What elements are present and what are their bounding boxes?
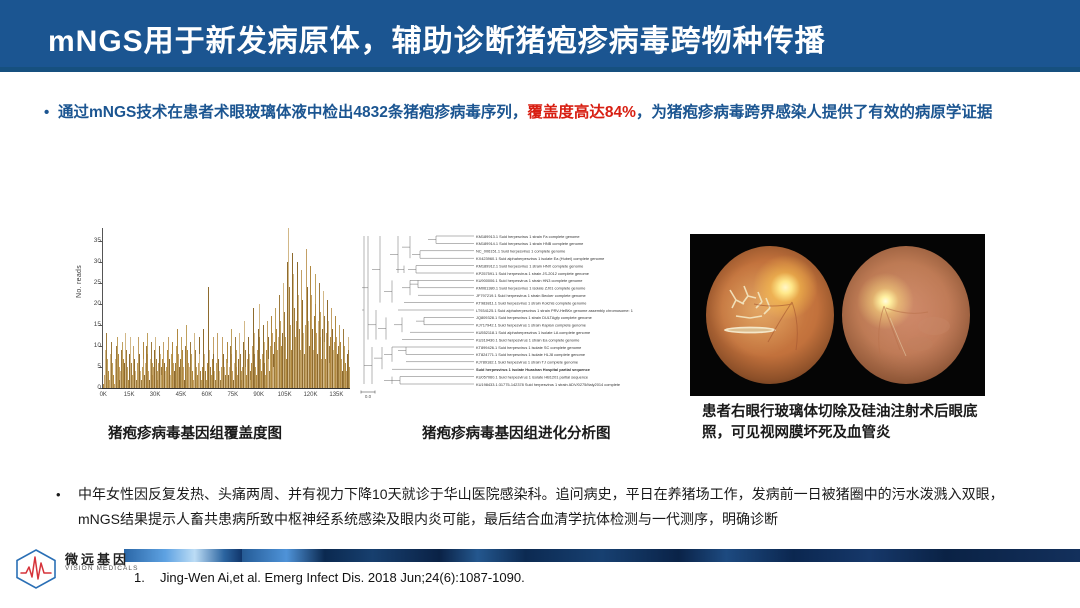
tree-taxon-label: KU900006.1 Suid herpesvirus 1 strain HN3… xyxy=(476,278,582,283)
header-underline xyxy=(0,67,1080,72)
coverage-y-tick-mark xyxy=(99,367,102,368)
retina-lesion-overlay-right xyxy=(842,246,970,384)
coverage-x-tick-label: 15K xyxy=(124,392,135,398)
page-title: mNGS用于新发病原体，辅助诊断猪疱疹病毒跨物种传播 xyxy=(48,16,826,60)
tree-scale-bar-label: 0.0 xyxy=(360,390,376,399)
tree-scale-value: 0.0 xyxy=(365,394,371,399)
coverage-y-tick-mark xyxy=(99,325,102,326)
coverage-x-tick-label: 90K xyxy=(253,392,264,398)
coverage-y-tick-mark xyxy=(99,262,102,263)
tree-taxon-label: JQ809328.1 Suid herpesvirus 1 strain DUL… xyxy=(476,315,592,320)
fundus-photo-left xyxy=(706,246,834,384)
tree-svg: KM189913.1 Suid herpesvirus 1 strain Fa … xyxy=(358,230,658,402)
summary-paragraph: •中年女性因反复发热、头痛两周、并有视力下降10天就诊于华山医院感染科。追问病史… xyxy=(56,482,1041,532)
coverage-y-tick-mark xyxy=(99,304,102,305)
summary-bullet-marker: • xyxy=(56,482,78,507)
coverage-y-tick-mark xyxy=(99,388,102,389)
tree-taxon-label: KU552118.1 Suid alphaherpesvirus 1 isola… xyxy=(476,330,590,335)
tree-taxon-label: KP257591.1 Suid herpesvirus 1 strain JS-… xyxy=(476,271,589,276)
fundus-photo-right xyxy=(842,246,970,384)
tree-taxon-label: KM189914.1 Suid herpesvirus 1 strain HNB… xyxy=(476,241,583,246)
bullet-marker: • xyxy=(44,100,58,126)
tree-taxon-label: KM189912.1 Suid herpesvirus 1 strain HNX… xyxy=(476,263,583,268)
caption-coverage: 猪疱疹病毒基因组覆盖度图 xyxy=(108,424,282,445)
coverage-y-tick-mark xyxy=(99,346,102,347)
citation: 1.Jing-Wen Ai,et al. Emerg Infect Dis. 2… xyxy=(134,570,525,585)
intro-bullet-block: •通过mNGS技术在患者术眼玻璃体液中检出4832条猪疱疹病毒序列，覆盖度高达8… xyxy=(44,100,1034,126)
coverage-x-tick-label: 75K xyxy=(227,392,238,398)
coverage-chart: No. reads 05101520253035 0K15K30K45K60K7… xyxy=(78,228,353,414)
tree-taxon-label: KJ789182.1 Suid herpesvirus 1 strain TJ … xyxy=(476,360,578,365)
caption-fundus: 患者右眼行玻璃体切除及硅油注射术后眼底照，可见视网膜坏死及血管炎 xyxy=(702,402,982,444)
summary-text: 中年女性因反复发热、头痛两周、并有视力下降10天就诊于华山医院感染科。追问病史，… xyxy=(78,482,1033,532)
intro-text-part1: 通过mNGS技术在患者术眼玻璃体液中检出4832条猪疱疹病毒序列， xyxy=(58,104,527,121)
intro-highlight: 覆盖度高达84% xyxy=(527,104,636,121)
footer-decorative-band xyxy=(124,549,1080,562)
phylogenetic-tree: KM189913.1 Suid herpesvirus 1 strain Fa … xyxy=(358,230,658,415)
tree-taxon-label: KT983811.1 Suid herpesvirus 1 strain Kol… xyxy=(476,300,586,305)
coverage-bar xyxy=(349,367,350,388)
logo-text-en: VISION MEDICALS xyxy=(65,565,139,572)
citation-text: Jing-Wen Ai,et al. Emerg Infect Dis. 201… xyxy=(160,570,525,585)
coverage-bars xyxy=(103,228,350,388)
tree-taxon-label: KM061380.1 Suid herpesvirus 1 isolate ZJ… xyxy=(476,286,585,291)
tree-taxon-label: JF797219.1 Suid herpesvirus 1 strain Bec… xyxy=(476,293,586,298)
tree-taxon-label: Suid herpesvirus 1 isolate Huashan Hospi… xyxy=(476,367,591,372)
tree-taxon-label: KJ717942.1 Suid herpesvirus 1 strain Kap… xyxy=(476,323,586,328)
coverage-x-tick-label: 60K xyxy=(202,392,213,398)
coverage-x-axis xyxy=(102,388,350,389)
tree-taxon-label: NC_006151.1 Suid herpesvirus 1 complete … xyxy=(476,249,565,254)
coverage-x-tick-label: 45K xyxy=(176,392,187,398)
tree-taxon-label: KM189913.1 Suid herpesvirus 1 strain Fa … xyxy=(476,234,580,239)
caption-tree: 猪疱疹病毒基因组进化分析图 xyxy=(422,424,611,445)
retina-lesion-overlay-left xyxy=(706,246,834,384)
coverage-x-tick-label: 105K xyxy=(278,392,292,398)
tree-taxon-label: KX423960.1 Suid alphaherpesvirus 1 isola… xyxy=(476,256,604,261)
tree-taxon-label: KU057060.1 Suid herpesvirus 1 isolate HB… xyxy=(476,374,588,379)
tree-taxon-label: KT824771.1 Suid herpesvirus 1 isolate HL… xyxy=(476,352,585,357)
tree-taxon-label: KU319430.1 Suid herpesvirus 1 strain Ea … xyxy=(476,337,579,342)
tree-taxon-label: KU198433.1:31775-142378 Suid herpesvirus… xyxy=(476,382,620,387)
tree-taxon-label: KT899426.1 Suid herpesvirus 1 isolate SC… xyxy=(476,345,581,350)
company-logo: 微远基因 VISION MEDICALS xyxy=(12,547,122,589)
intro-text: 通过mNGS技术在患者术眼玻璃体液中检出4832条猪疱疹病毒序列，覆盖度高达84… xyxy=(58,100,1008,126)
coverage-x-tick-label: 135K xyxy=(329,392,343,398)
citation-number: 1. xyxy=(134,570,160,585)
coverage-x-tick-label: 120K xyxy=(303,392,317,398)
fundus-photo-panel xyxy=(690,234,985,396)
tree-taxon-label: LT934125.1 Suid alphaherpesvirus 1 strai… xyxy=(476,308,633,313)
hexagon-waveform-icon xyxy=(12,547,60,589)
coverage-x-tick-label: 30K xyxy=(150,392,161,398)
coverage-y-axis-label: No. reads xyxy=(76,265,83,298)
coverage-x-tick-label: 0K xyxy=(100,392,107,398)
slide-root: mNGS用于新发病原体，辅助诊断猪疱疹病毒跨物种传播 •通过mNGS技术在患者术… xyxy=(0,0,1080,608)
intro-text-part2: ，为猪疱疹病毒跨界感染人提供了有效的病原学证据 xyxy=(636,104,993,121)
coverage-y-tick-mark xyxy=(99,241,102,242)
coverage-y-tick-mark xyxy=(99,283,102,284)
